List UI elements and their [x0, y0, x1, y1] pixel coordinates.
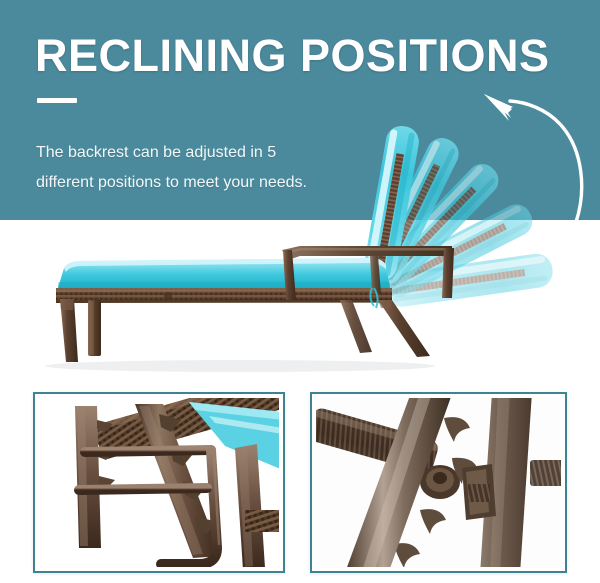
detail-panel-left-image: [39, 398, 279, 567]
chaise-lounge-graphic: [0, 0, 600, 380]
locking-clip: [462, 464, 496, 520]
front-legs: [60, 299, 101, 362]
seat-cushion: [58, 258, 390, 288]
wicker-stub: [530, 460, 561, 486]
product-illustration: [0, 0, 600, 380]
detail-panel-ratchet-frame[interactable]: [33, 392, 285, 573]
pivot-hub: [420, 465, 460, 499]
rear-legs: [340, 300, 430, 357]
detail-panel-row: [0, 392, 600, 577]
detail-panel-right-image: [316, 398, 561, 567]
ratchet-closeup-illustration: [316, 398, 561, 567]
ratchet-frame-illustration: [39, 398, 279, 567]
ground-shadow: [45, 360, 435, 372]
detail-panel-ratchet-closeup[interactable]: [310, 392, 567, 573]
product-feature-image: RECLINING POSITIONS The backrest can be …: [0, 0, 600, 583]
